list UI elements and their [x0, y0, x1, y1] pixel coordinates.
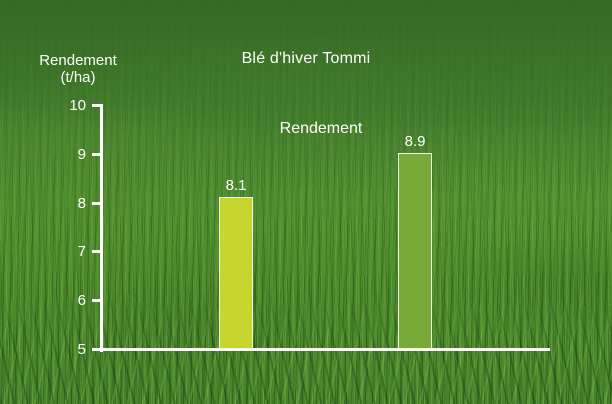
- y-tick-label-7: 7: [52, 244, 86, 259]
- y-tick-mark-7: [92, 250, 101, 253]
- x-axis-baseline: [92, 348, 550, 351]
- y-tick-label-9: 9: [52, 147, 86, 162]
- y-tick-mark-6: [92, 299, 101, 302]
- y-tick-mark-8: [92, 202, 101, 205]
- y-tick-label-9-wrap: 9: [52, 147, 86, 162]
- y-tick-mark-10: [92, 104, 101, 107]
- chart-screenshot: Blé d'hiver Tommi Rendement (t/ha) Rende…: [0, 0, 612, 404]
- y-tick-label-10: 10: [52, 98, 86, 113]
- y-tick-label-8-wrap: 8: [52, 196, 86, 211]
- plot-area: 10 9 8 7 6 5 8.1 8.9: [0, 0, 612, 404]
- bar-value-label-2: 8.9: [381, 134, 449, 149]
- y-tick-label-6: 6: [52, 293, 86, 308]
- bar-rendement-2[interactable]: [398, 153, 432, 349]
- y-tick-mark-9: [92, 153, 101, 156]
- y-axis-line: [100, 104, 103, 352]
- y-tick-label-8: 8: [52, 196, 86, 211]
- bar-rendement-1[interactable]: [219, 197, 253, 349]
- y-tick-label-10-wrap: 10: [52, 98, 86, 113]
- y-tick-mark-5: [92, 348, 101, 351]
- y-tick-label-6-wrap: 6: [52, 293, 86, 308]
- y-tick-label-5: 5: [52, 342, 86, 357]
- y-tick-label-5-wrap: 5: [52, 342, 86, 357]
- bar-value-label-1: 8.1: [202, 178, 270, 193]
- y-tick-label-7-wrap: 7: [52, 244, 86, 259]
